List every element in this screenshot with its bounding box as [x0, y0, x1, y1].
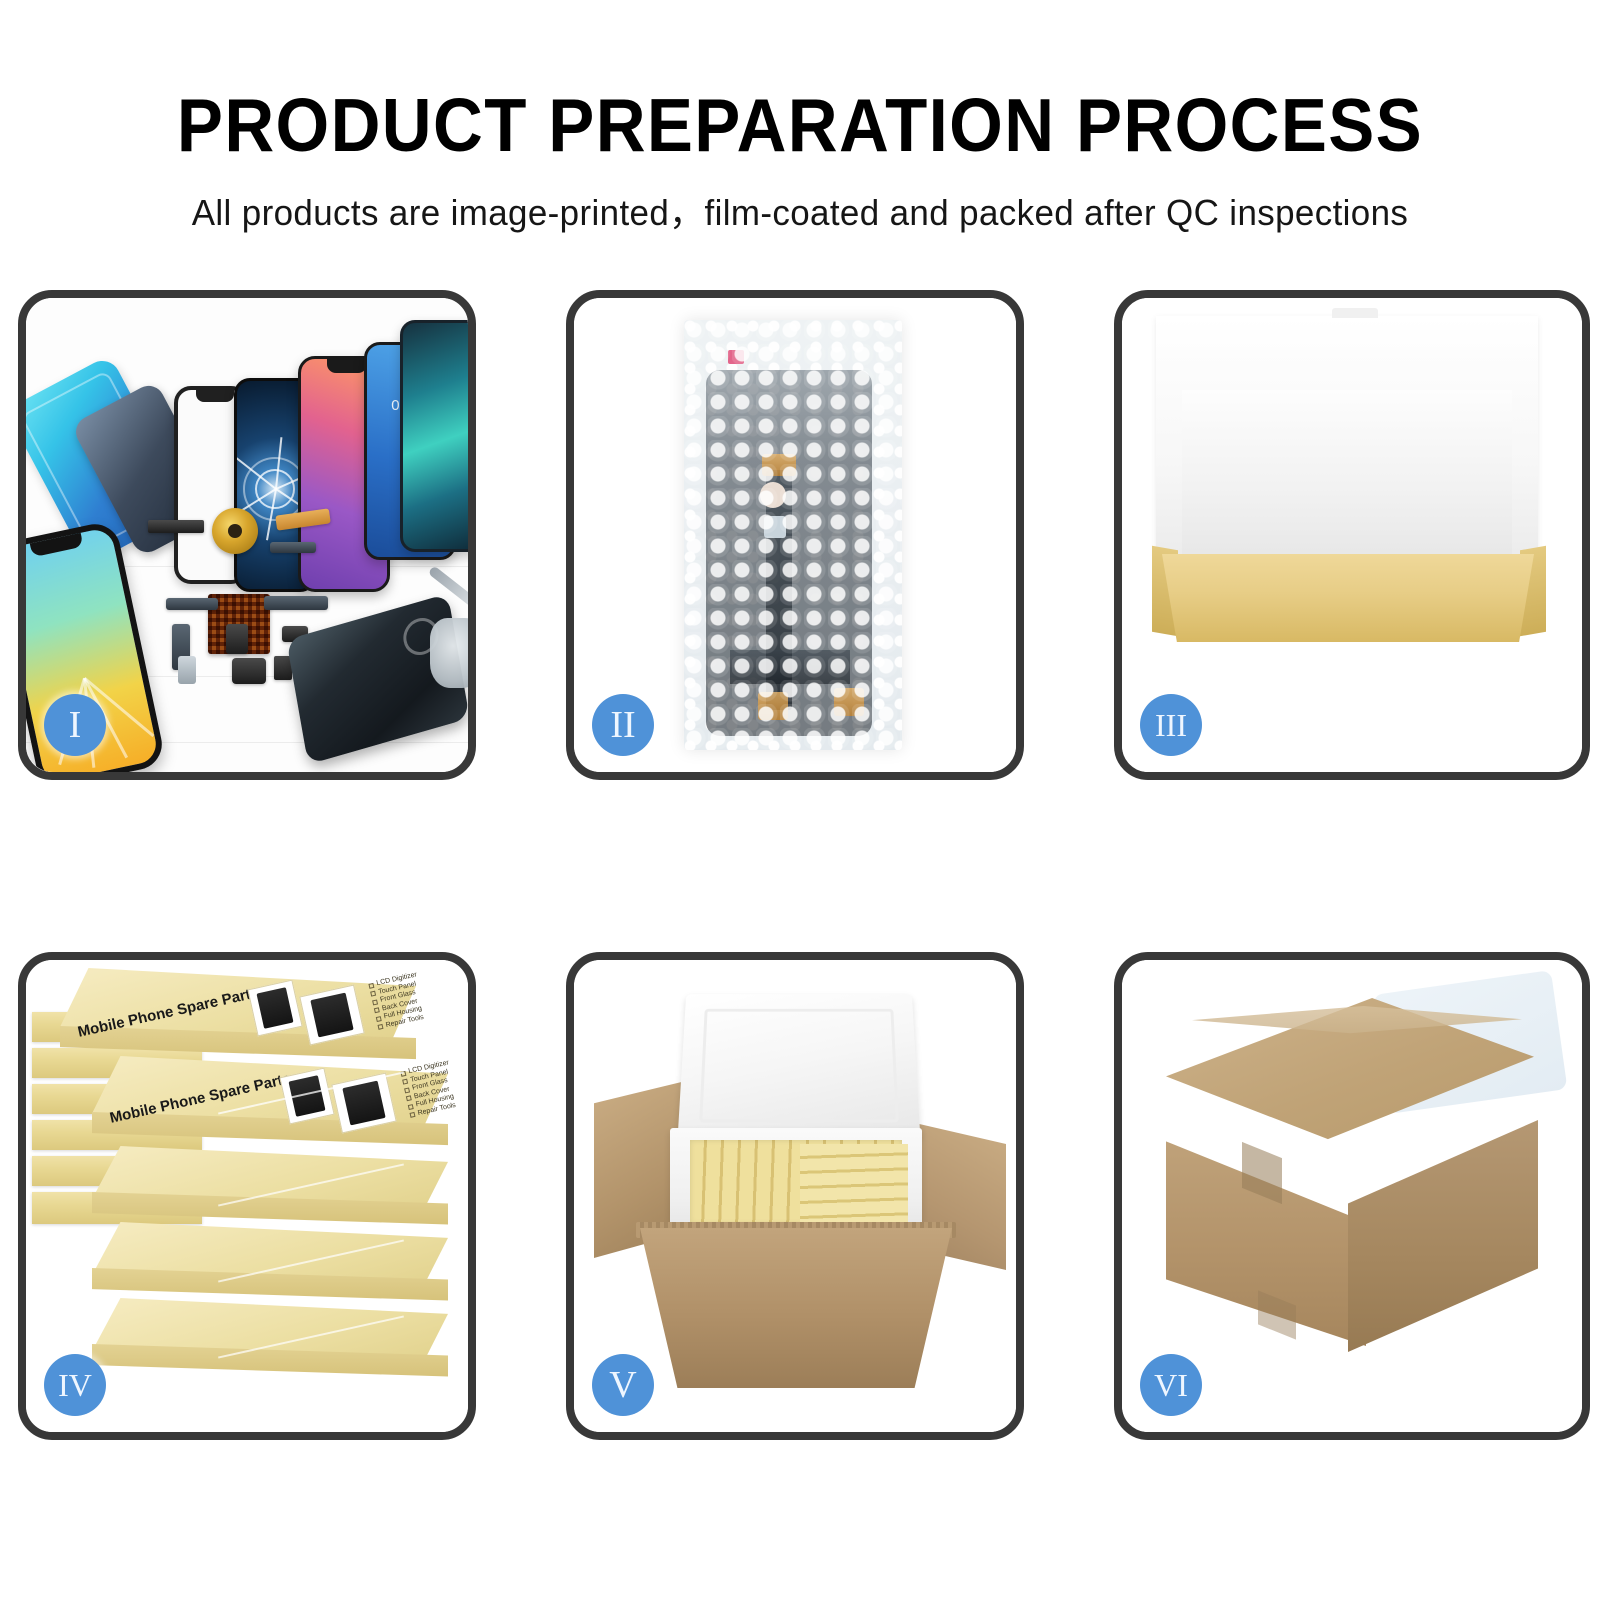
- step-panel-1[interactable]: 08:08: [18, 290, 476, 780]
- page-title: PRODUCT PREPARATION PROCESS: [64, 88, 1536, 163]
- step-badge-1: I: [44, 694, 106, 756]
- retail-box-window-1a: [247, 980, 302, 1037]
- step-panel-5[interactable]: V: [566, 952, 1024, 1440]
- infographic-page: PRODUCT PREPARATION PROCESS All products…: [0, 0, 1600, 1600]
- gold-box-tray-icon: [1162, 554, 1534, 642]
- header: PRODUCT PREPARATION PROCESS All products…: [0, 0, 1600, 231]
- bubble-texture-overlay: [684, 320, 902, 750]
- foam-sheet-icon: [1182, 390, 1512, 566]
- flex-cable-dark-icon: [270, 542, 316, 553]
- teal-phone-icon: [400, 320, 468, 552]
- connector-bar-icon: [148, 520, 204, 533]
- step-badge-2: II: [592, 694, 654, 756]
- step-panel-2[interactable]: II: [566, 290, 1024, 780]
- carton-body-icon: [640, 1228, 952, 1388]
- step-badge-3: III: [1140, 694, 1202, 756]
- step-badge-5: V: [592, 1354, 654, 1416]
- step-panel-4[interactable]: Mobile Phone Spare Parts LCD Digitizer T…: [18, 952, 476, 1440]
- volume-flex-icon: [264, 596, 328, 610]
- foam-lid-icon: [678, 994, 921, 1139]
- tweezers-icon: [430, 618, 468, 688]
- earpiece-icon: [232, 658, 266, 684]
- step-panel-6[interactable]: VI: [1114, 952, 1590, 1440]
- step-badge-6: VI: [1140, 1354, 1202, 1416]
- step-panel-3[interactable]: III: [1114, 290, 1590, 780]
- step-badge-4: IV: [44, 1354, 106, 1416]
- packed-retail-boxes-row2-icon: [800, 1144, 908, 1224]
- battery-connector-icon: [226, 624, 248, 654]
- carton-right-face-icon: [1348, 1120, 1538, 1352]
- retail-box-checklist-2: LCD Digitizer Touch Panel Front Glass Ba…: [400, 1059, 459, 1120]
- camera-flex-icon: [166, 598, 218, 610]
- bubble-wrap-bag-icon: [684, 320, 902, 750]
- retail-box-checklist-1: LCD Digitizer Touch Panel Front Glass Ba…: [368, 971, 427, 1032]
- speaker-module-icon: [212, 508, 258, 554]
- sim-tray-icon: [178, 656, 196, 684]
- process-steps-grid: 08:08: [18, 290, 1590, 1470]
- page-subtitle: All products are image-printed，film-coat…: [24, 195, 1576, 231]
